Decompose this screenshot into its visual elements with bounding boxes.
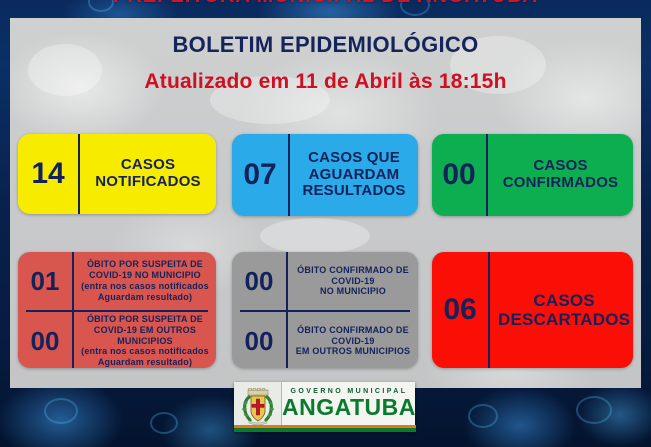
stat-label-line: COVID-19 [331,276,374,286]
stat-value: 00 [31,328,60,354]
stat-label: CASOS CONFIRMADOS [494,158,627,192]
stat-subrow-municipio: 00 ÓBITO CONFIRMADO DE COVID-19 NO MUNIC… [232,252,418,310]
stat-card-casos-confirmados: 00 CASOS CONFIRMADOS [432,134,633,216]
stat-label-line: EM OUTROS MUNICIPIOS [296,346,411,356]
stat-label-line: MUNICIPIOS [117,336,173,346]
stat-card-casos-aguardam-resultados: 07 CASOS QUE AGUARDAM RESULTADOS [232,134,418,216]
stat-label: CASOS NOTIFICADOS [88,157,208,191]
stat-value-container: 06 [432,252,490,368]
stat-card-obitos-confirmados: 00 ÓBITO CONFIRMADO DE COVID-19 NO MUNIC… [232,252,418,368]
stat-label: ÓBITO CONFIRMADO DE COVID-19 EM OUTROS M… [296,325,411,358]
stats-row-primary: 14 CASOS NOTIFICADOS 07 CASOS QUE AGUARD… [10,130,641,218]
stat-label-line: (entra nos casos notificados [81,281,209,291]
content-panel: BOLETIM EPIDEMIOLÓGICO Atualizado em 11 … [10,18,641,388]
virus-ring-decoration [468,404,498,428]
stat-subrow-outros-municipios: 00 ÓBITO POR SUSPEITA DE COVID-19 EM OUT… [18,312,216,368]
stat-label-line: Aguardam resultado) [98,292,192,302]
stat-value-container: 00 [232,252,288,310]
last-updated-text: Atualizado em 11 de Abril às 18:15h [10,70,641,94]
stat-card-casos-descartados: 06 CASOS DESCARTADOS [432,252,633,368]
stat-label-line: COVID-19 EM OUTROS [94,325,196,335]
stat-value-container: 01 [18,252,74,310]
stat-value: 00 [245,268,274,294]
heading-block: BOLETIM EPIDEMIOLÓGICO Atualizado em 11 … [10,32,641,94]
stat-label-container: CASOS QUE AGUARDAM RESULTADOS [290,134,418,216]
stat-value: 01 [31,268,60,294]
stat-label-container: CASOS CONFIRMADOS [488,134,633,216]
virus-ring-decoration [576,396,612,424]
stat-value: 00 [245,328,274,354]
stat-card-casos-notificados: 14 CASOS NOTIFICADOS [18,134,216,214]
stat-value: 00 [442,160,475,190]
stat-label-line: ÓBITO POR SUSPEITA DE [87,314,203,324]
stat-value-container: 14 [18,134,80,214]
stat-label-line: NO MUNICIPIO [320,286,386,296]
stat-value: 14 [31,159,64,189]
stat-label-line: ÓBITO POR SUSPEITA DE [87,259,203,269]
stat-value-container: 00 [18,312,74,368]
stat-label-container: CASOS NOTIFICADOS [80,134,216,214]
stat-value-container: 00 [432,134,488,216]
stats-row-secondary: 01 ÓBITO POR SUSPEITA DE COVID-19 NO MUN… [10,248,641,373]
stat-label: CASOS QUE AGUARDAM RESULTADOS [296,150,412,200]
stat-label-container: ÓBITO CONFIRMADO DE COVID-19 EM OUTROS M… [288,312,418,368]
top-banner-text: PREFEITURA MUNICIPAL DE ANGATUBA [0,0,651,8]
stat-label: ÓBITO POR SUSPEITA DE COVID-19 EM OUTROS… [81,314,209,368]
stat-value-container: 00 [232,312,288,368]
stat-subrow-outros-municipios: 00 ÓBITO CONFIRMADO DE COVID-19 EM OUTRO… [232,312,418,368]
stat-label-container: ÓBITO CONFIRMADO DE COVID-19 NO MUNICIPI… [288,252,418,310]
crest-stripes [234,425,282,432]
stat-value-container: 07 [232,134,290,216]
stat-label-container: CASOS DESCARTADOS [490,252,633,368]
stat-label-container: ÓBITO POR SUSPEITA DE COVID-19 EM OUTROS… [74,312,216,368]
stat-label-line: COVID-19 NO MUNICIPIO [89,270,201,280]
page-title: BOLETIM EPIDEMIOLÓGICO [10,32,641,58]
logo-city-name: ANGATUBA [282,396,416,419]
stat-label: ÓBITO CONFIRMADO DE COVID-19 NO MUNICIPI… [297,265,409,298]
stat-label-container: ÓBITO POR SUSPEITA DE COVID-19 NO MUNICI… [74,252,216,310]
stat-label-line: Aguardam resultado) [98,357,192,367]
top-banner: PREFEITURA MUNICIPAL DE ANGATUBA [0,0,651,10]
virus-ring-decoration [150,412,178,434]
stat-label-line: ÓBITO CONFIRMADO DE [297,325,409,335]
stat-card-obitos-suspeita: 01 ÓBITO POR SUSPEITA DE COVID-19 NO MUN… [18,252,216,368]
stat-label-line: (entra nos casos notificados [81,346,209,356]
epidemiological-bulletin-poster: PREFEITURA MUNICIPAL DE ANGATUBA BOLETIM… [0,0,651,447]
stat-label: CASOS DESCARTADOS [498,291,630,329]
logo-stripes [282,425,416,432]
stat-label-line: COVID-19 [331,336,374,346]
crest-stripe-green [234,428,282,432]
stat-value: 07 [243,160,276,190]
virus-ring-decoration [44,398,78,424]
stat-value: 06 [443,295,476,325]
stat-subrow-municipio: 01 ÓBITO POR SUSPEITA DE COVID-19 NO MUN… [18,252,216,310]
stat-label-line: ÓBITO CONFIRMADO DE [297,265,409,275]
stat-label: ÓBITO POR SUSPEITA DE COVID-19 NO MUNICI… [81,259,209,303]
logo-stripe-green [282,428,416,432]
logo-text-block: GOVERNO MUNICIPAL ANGATUBA [282,382,416,432]
